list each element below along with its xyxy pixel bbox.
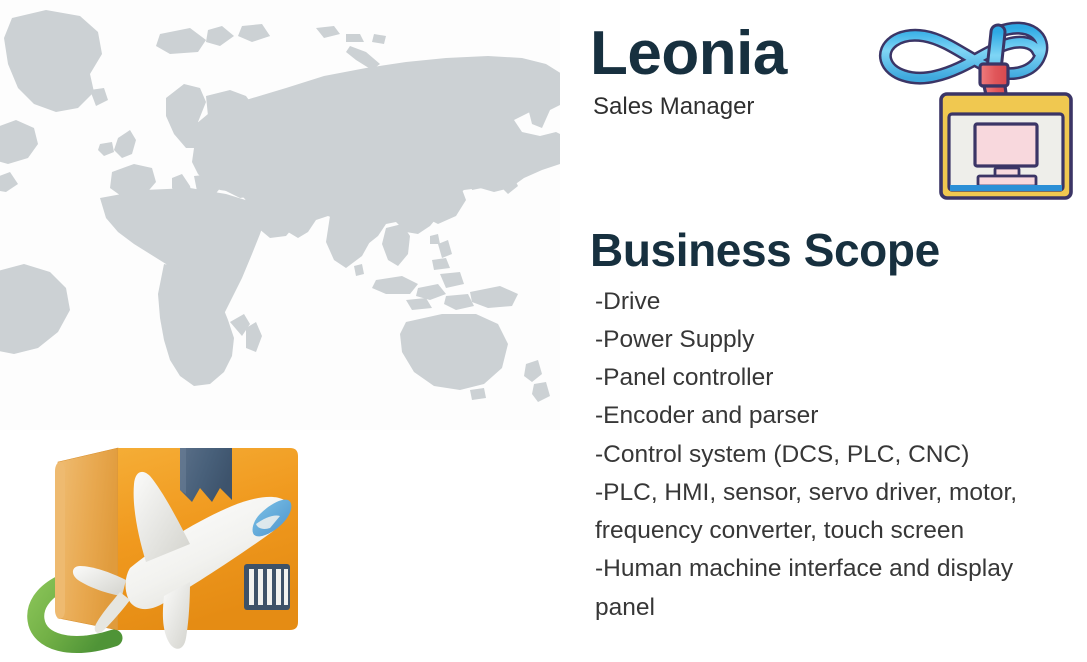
scope-item: -Power Supply	[590, 321, 1060, 359]
scope-item: -Encoder and parser	[590, 397, 1060, 435]
parcel-side-face	[58, 448, 118, 630]
badge-lanyard	[885, 28, 1042, 84]
business-scope-title: Business Scope	[590, 226, 1060, 275]
badge-monitor-screen	[975, 124, 1037, 166]
scope-item: -Human machine interface and display pan…	[590, 550, 1060, 626]
name-block: Leonia Sales Manager	[590, 22, 890, 121]
scope-item: -Panel controller	[590, 359, 1060, 397]
business-scope-block: Business Scope -Drive -Power Supply -Pan…	[590, 226, 1060, 627]
scope-item: -Drive	[590, 283, 1060, 321]
business-scope-list: -Drive -Power Supply -Panel controller -…	[590, 283, 1060, 627]
scope-item: -Control system (DCS, PLC, CNC)	[590, 436, 1060, 474]
parcel-barcode-label	[244, 564, 290, 610]
business-card-canvas: Leonia Sales Manager	[0, 0, 1087, 662]
world-map-backdrop	[0, 0, 560, 430]
air-freight-parcel-icon	[22, 424, 334, 662]
world-map-landmasses	[0, 10, 560, 402]
person-name: Leonia	[590, 22, 890, 86]
badge-card	[941, 94, 1071, 198]
person-role: Sales Manager	[593, 94, 890, 120]
scope-item: -PLC, HMI, sensor, servo driver, motor, …	[590, 474, 1060, 550]
id-badge-icon	[862, 4, 1080, 204]
